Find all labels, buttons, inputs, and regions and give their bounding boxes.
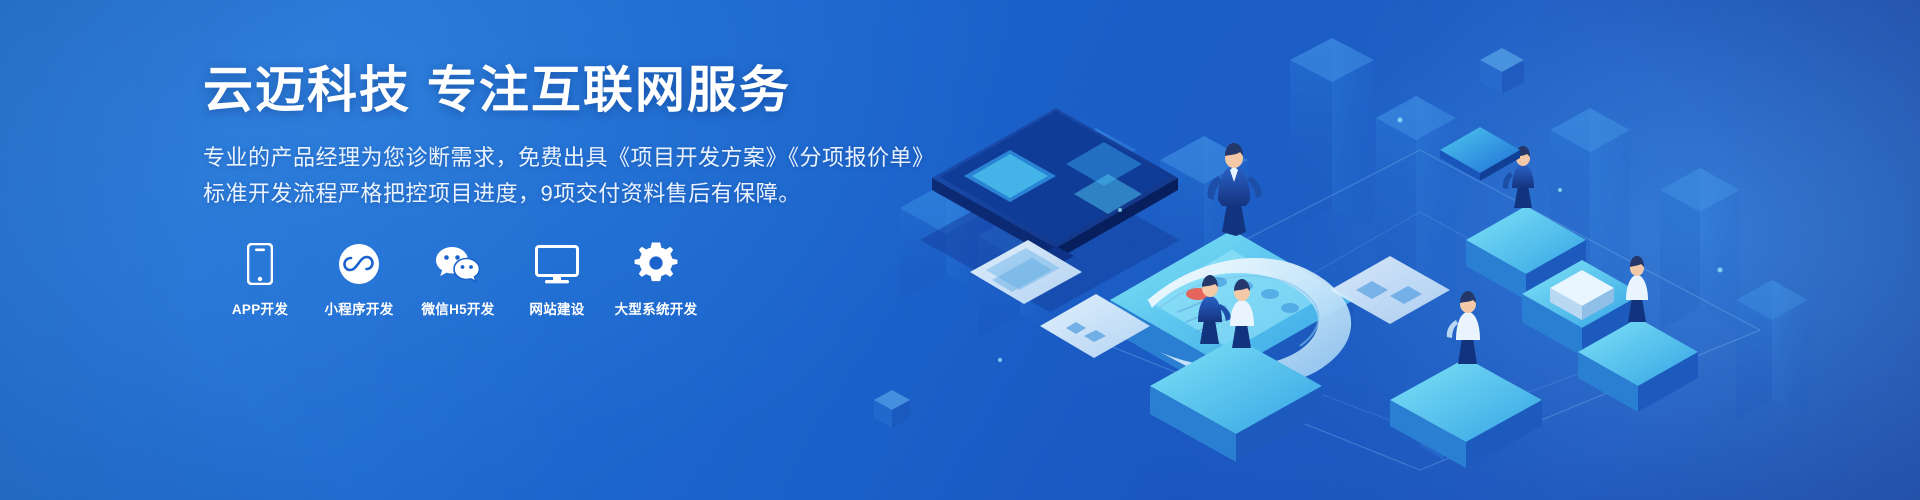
hero-content: 云迈科技 专注互联网服务 专业的产品经理为您诊断需求，免费出具《项目开发方案》《… [203, 62, 983, 318]
service-label-wechat: 微信H5开发 [421, 298, 494, 318]
service-item-large-system[interactable]: 大型系统开发 [621, 241, 691, 318]
hero-banner: 云迈科技 专注互联网服务 专业的产品经理为您诊断需求，免费出具《项目开发方案》《… [0, 0, 1920, 500]
page-title: 云迈科技 专注互联网服务 [203, 62, 983, 118]
subtitle-block: 专业的产品经理为您诊断需求，免费出具《项目开发方案》《分项报价单》 标准开发流程… [203, 140, 983, 211]
monitor-icon [535, 241, 579, 285]
service-label-website: 网站建设 [529, 298, 584, 318]
mini-program-icon [338, 241, 380, 285]
service-list: APP开发 小程序开发 [225, 241, 983, 318]
hero-illustration [860, 0, 1920, 500]
wechat-icon [435, 241, 481, 285]
gear-icon [634, 241, 678, 285]
service-item-website[interactable]: 网站建设 [522, 241, 592, 318]
service-label-app: APP开发 [232, 298, 288, 318]
service-label-large-system: 大型系统开发 [615, 298, 698, 318]
service-item-mini-program[interactable]: 小程序开发 [324, 241, 394, 318]
mobile-phone-icon [247, 241, 273, 285]
service-item-wechat[interactable]: 微信H5开发 [423, 241, 493, 318]
service-item-app[interactable]: APP开发 [225, 241, 295, 318]
service-label-mini-program: 小程序开发 [325, 298, 394, 318]
person-front-right [1447, 291, 1480, 364]
subtitle-line-2: 标准开发流程严格把控项目进度，9项交付资料售后有保障。 [203, 176, 983, 212]
subtitle-line-1: 专业的产品经理为您诊断需求，免费出具《项目开发方案》《分项报价单》 [203, 140, 983, 176]
front-pedestal-right [1390, 358, 1542, 468]
